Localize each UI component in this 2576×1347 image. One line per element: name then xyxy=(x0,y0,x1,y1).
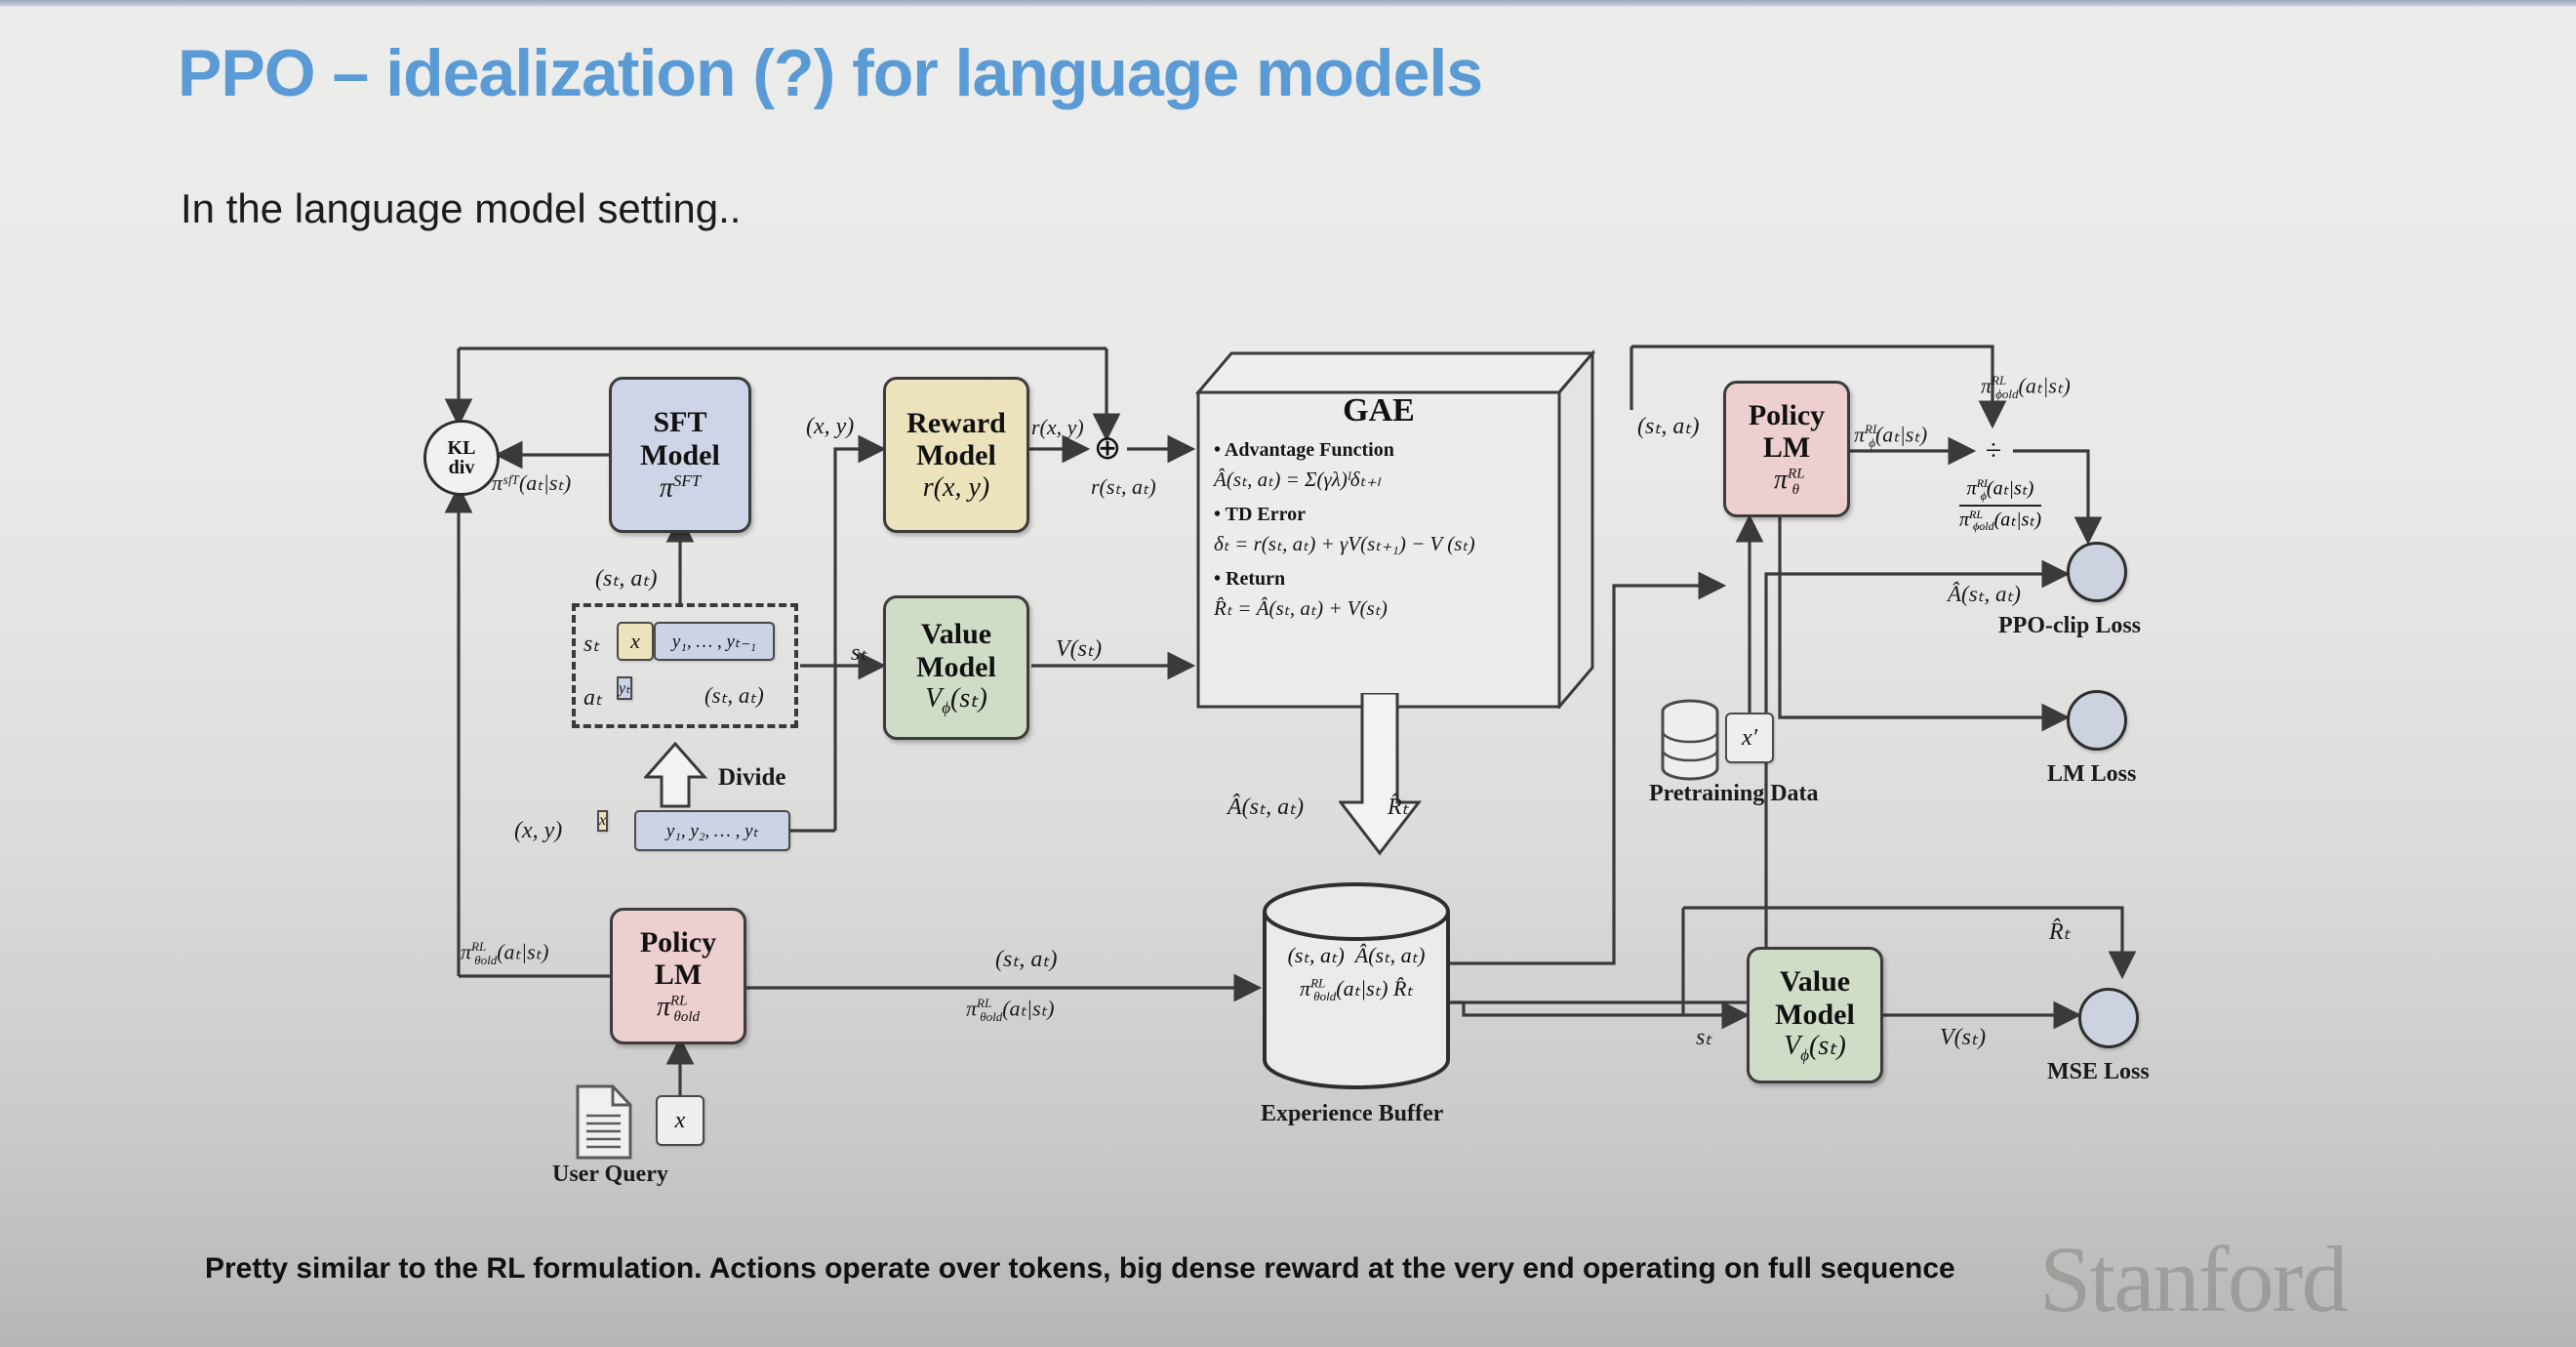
sft-model-name: SFT xyxy=(653,406,706,439)
edge-label-xy-to-reward: (x, y) xyxy=(806,414,854,440)
pretraining-token: x′ xyxy=(1725,713,1774,763)
edge-label-ret-to-mse: R̂ₜ xyxy=(2049,918,2071,946)
edge-label-old-prob-top: πRLϕold(aₜ|sₜ) xyxy=(1981,373,2071,402)
gae-title: GAE xyxy=(1198,392,1559,429)
gae-bullet-formula-2: R̂ₜ = Â(sₜ, aₜ) + V(sₜ) xyxy=(1214,596,1559,621)
sum-node: ⊕ xyxy=(1087,429,1128,469)
edge-label-adv-to-ppo: Â(sₜ, aₜ) xyxy=(1948,582,2021,607)
edge-label-sft-to-kl: πˢᶠᵀ(aₜ|sₜ) xyxy=(492,470,571,496)
experience-buffer-caption: Experience Buffer xyxy=(1261,1101,1443,1127)
edge-label-policy-new-out: πRLϕ(aₜ|sₜ) xyxy=(1854,422,1927,451)
full-y-tokens: y₁, y₂, … , yₜ xyxy=(634,810,790,851)
buffer-row2-left: π xyxy=(1300,976,1310,1000)
kl-div-line1: KL xyxy=(448,438,476,458)
value-model-top-symbol: Vϕ(sₜ) xyxy=(925,683,987,717)
ppo-clip-loss-label: PPO-clip Loss xyxy=(1998,613,2141,639)
pretraining-data-caption: Pretraining Data xyxy=(1649,781,1819,807)
edge-label-policy-old-pair: (sₜ, aₜ) xyxy=(995,945,1057,973)
policy-lm-new-symbol: πRLθ xyxy=(1774,465,1799,499)
policy-lm-new-name: Policy xyxy=(1749,399,1825,432)
lm-loss-dot[interactable] xyxy=(2067,690,2127,751)
state-x-token: x xyxy=(617,622,654,661)
experience-buffer-contents: (sₜ, aₜ) Â(sₜ, aₜ) πRLθold(aₜ|sₜ) R̂ₜ xyxy=(1268,939,1444,1007)
value-model-top-node[interactable]: Value Model Vϕ(sₜ) xyxy=(883,595,1029,740)
full-sequence-label: (x, y) xyxy=(514,818,562,844)
edge-label-value-bottom-out: V(sₜ) xyxy=(1940,1023,1986,1051)
kl-div-node[interactable]: KL div xyxy=(423,420,500,496)
database-icon xyxy=(1656,698,1724,786)
reward-model-name2: Model xyxy=(916,439,996,472)
policy-lm-new-node[interactable]: Policy LM πRLθ xyxy=(1723,381,1850,517)
edge-label-buffer-to-policy: (sₜ, aₜ) xyxy=(1637,412,1699,440)
policy-lm-old-node[interactable]: Policy LM πRLθold xyxy=(610,908,746,1044)
value-model-bottom-name: Value xyxy=(1780,965,1850,999)
ratio-denominator: πRLϕold(aₜ|sₜ) xyxy=(1959,508,2041,535)
state-symbol: sₜ xyxy=(584,630,599,658)
state-action-pair-label: (sₜ, aₜ) xyxy=(704,683,764,709)
document-icon xyxy=(574,1083,636,1162)
user-query-caption: User Query xyxy=(552,1162,668,1188)
policy-lm-new-name2: LM xyxy=(1763,431,1810,465)
edge-label-gae-adv-out: Â(sₜ, aₜ) xyxy=(1228,793,1304,821)
policy-lm-old-name2: LM xyxy=(655,959,702,992)
edge-label-policy-old-to-kl: πRLθold(aₜ|sₜ) xyxy=(461,939,548,968)
policy-lm-old-symbol: πRLθold xyxy=(657,992,700,1026)
sft-model-node[interactable]: SFT Model πSFT xyxy=(609,377,751,533)
gae-to-buffer-arrow xyxy=(1339,693,1427,859)
sft-model-name2: Model xyxy=(640,439,720,472)
edge-label-gae-ret-out: R̂ₜ xyxy=(1388,793,1409,821)
action-symbol: aₜ xyxy=(584,683,602,712)
buffer-row1-left: (sₜ, aₜ) xyxy=(1288,943,1345,967)
gae-bullet-heading-2: • Return xyxy=(1214,568,1559,591)
gae-bullet-formula-0: Â(sₜ, aₜ) = Σ(γλ)ˡδₜ₊ₗ xyxy=(1214,468,1559,492)
lm-loss-label: LM Loss xyxy=(2047,761,2136,788)
value-model-top-name: Value xyxy=(921,618,991,651)
gae-bullet-heading-0: • Advantage Function xyxy=(1214,439,1559,462)
ratio-numerator: πRLϕ(aₜ|sₜ) xyxy=(1959,476,2041,504)
edge-label-reward-out: r(x, y) xyxy=(1031,415,1084,440)
mse-loss-dot[interactable] xyxy=(2078,988,2139,1048)
ppo-diagram: GAE • Advantage Function Â(sₜ, aₜ) = Σ(γ… xyxy=(0,0,2576,1347)
user-query-token: x xyxy=(656,1095,704,1146)
edge-label-sum-out: r(sₜ, aₜ) xyxy=(1091,474,1156,500)
sft-model-symbol: πSFT xyxy=(660,471,701,504)
value-model-bottom-name2: Model xyxy=(1775,999,1855,1032)
edge-label-st-value-bottom: sₜ xyxy=(1696,1023,1711,1051)
reward-model-node[interactable]: Reward Model r(x, y) xyxy=(883,377,1029,533)
reward-model-name: Reward xyxy=(906,407,1006,440)
policy-lm-old-name: Policy xyxy=(640,926,716,959)
action-y-token: yₜ xyxy=(617,676,632,700)
reward-model-symbol: r(x, y) xyxy=(923,472,989,503)
buffer-row1-right: Â(sₜ, aₜ) xyxy=(1355,943,1426,967)
buffer-row2-right: R̂ₜ xyxy=(1393,976,1413,1000)
mse-loss-label: MSE Loss xyxy=(2047,1059,2150,1085)
edge-label-policy-old-prob: πRLθold(aₜ|sₜ) xyxy=(966,996,1054,1025)
gae-bullet-heading-1: • TD Error xyxy=(1214,504,1559,526)
edge-label-to-sft: (sₜ, aₜ) xyxy=(595,564,657,592)
value-model-bottom-node[interactable]: Value Model Vϕ(sₜ) xyxy=(1747,947,1883,1083)
gae-content: GAE • Advantage Function Â(sₜ, aₜ) = Σ(γ… xyxy=(1198,392,1559,621)
gae-bullet-formula-1: δₜ = r(sₜ, aₜ) + γV(sₜ₊₁) − V (sₜ) xyxy=(1214,532,1559,556)
kl-div-line2: div xyxy=(449,458,475,477)
state-y-tokens: y₁, … , yₜ₋₁ xyxy=(654,622,775,661)
ratio-fraction: πRLϕ(aₜ|sₜ) πRLϕold(aₜ|sₜ) xyxy=(1959,476,2041,534)
ppo-clip-loss-dot[interactable] xyxy=(2067,542,2127,602)
full-x-token: x xyxy=(597,810,608,832)
divide-arrow-icon xyxy=(644,742,708,810)
edge-label-value-out: V(sₜ) xyxy=(1056,634,1102,663)
value-model-bottom-symbol: Vϕ(sₜ) xyxy=(1784,1031,1846,1065)
slide-caption: Pretty similar to the RL formulation. Ac… xyxy=(205,1252,1955,1286)
divide-node: ÷ xyxy=(1973,430,2014,471)
value-model-top-name2: Model xyxy=(916,651,996,684)
edge-label-st-to-value: sₜ xyxy=(851,638,866,667)
divide-label: Divide xyxy=(718,764,785,792)
